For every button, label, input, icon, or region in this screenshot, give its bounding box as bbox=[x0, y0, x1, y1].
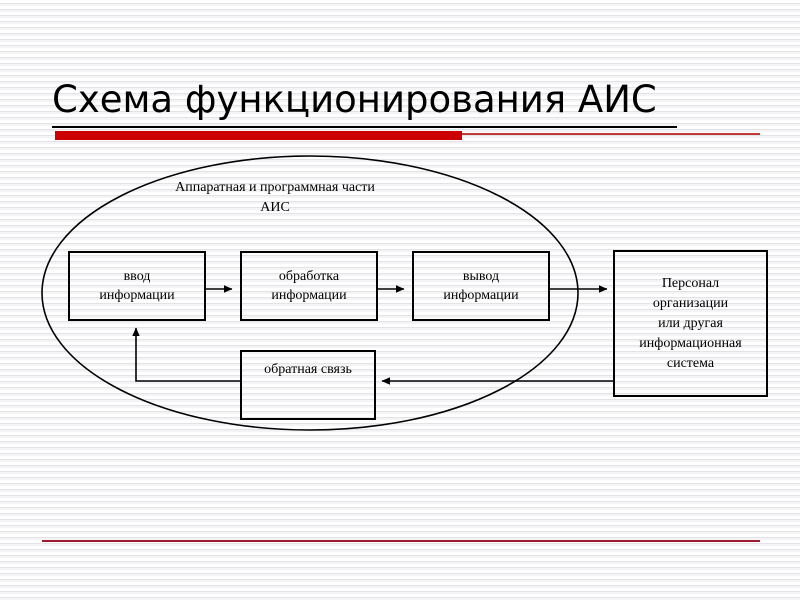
node-process-line-2: информации bbox=[271, 286, 346, 305]
node-feedback[interactable]: обратная связь bbox=[240, 350, 376, 420]
node-output-line-1: вывод bbox=[443, 267, 518, 286]
node-personnel-line-4: информационная bbox=[639, 334, 741, 354]
node-personnel-label: Персонал организации или другая информац… bbox=[639, 274, 741, 374]
node-process[interactable]: обработка информации bbox=[240, 251, 378, 321]
node-process-label: обработка информации bbox=[271, 267, 346, 305]
node-personnel-line-5: система bbox=[639, 354, 741, 374]
edge-feedback-to-input bbox=[136, 328, 240, 381]
node-personnel-line-3: или другая bbox=[639, 314, 741, 334]
node-input-line-2: информации bbox=[99, 286, 174, 305]
node-feedback-line-1: обратная связь bbox=[264, 360, 352, 379]
node-process-line-1: обработка bbox=[271, 267, 346, 286]
node-input[interactable]: ввод информации bbox=[68, 251, 206, 321]
node-personnel-line-2: организации bbox=[639, 294, 741, 314]
node-output[interactable]: вывод информации bbox=[412, 251, 550, 321]
node-input-line-1: ввод bbox=[99, 267, 174, 286]
group-caption: Аппаратная и программная части АИС bbox=[130, 178, 420, 218]
group-caption-line-2: АИС bbox=[130, 198, 420, 218]
node-input-label: ввод информации bbox=[99, 267, 174, 305]
group-caption-line-1: Аппаратная и программная части bbox=[130, 178, 420, 198]
slide-canvas: Схема функционирования АИС bbox=[0, 0, 800, 600]
node-personnel[interactable]: Персонал организации или другая информац… bbox=[613, 250, 768, 397]
node-output-label: вывод информации bbox=[443, 267, 518, 305]
footer-rule bbox=[42, 540, 760, 542]
node-personnel-line-1: Персонал bbox=[639, 274, 741, 294]
node-feedback-label: обратная связь bbox=[264, 360, 352, 379]
node-output-line-2: информации bbox=[443, 286, 518, 305]
